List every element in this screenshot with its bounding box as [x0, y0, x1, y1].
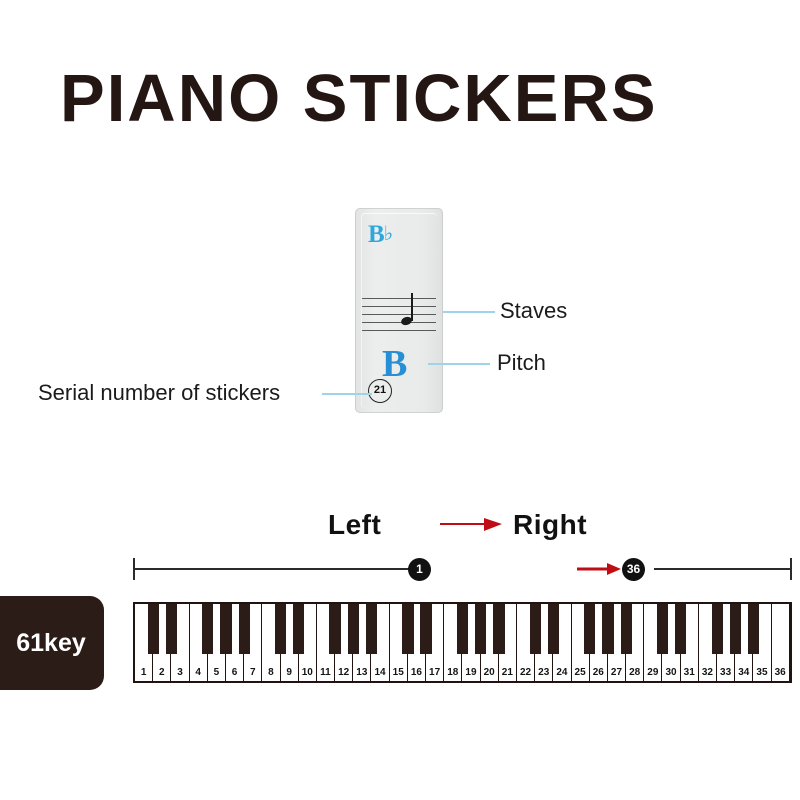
arrow-right-icon	[440, 512, 502, 536]
sticker-serial-number: 21	[368, 379, 392, 403]
sticker-note-letter: B	[368, 221, 384, 248]
white-key-number: 10	[302, 668, 313, 678]
white-key-number: 25	[575, 668, 586, 678]
white-key-number: 16	[411, 668, 422, 678]
staff-line	[362, 306, 436, 307]
white-key-number: 24	[556, 668, 567, 678]
callout-label-staves: Staves	[500, 298, 567, 324]
black-key[interactable]	[548, 604, 559, 654]
white-key-number: 1	[141, 668, 147, 678]
page-title: PIANO STICKERS	[60, 63, 800, 135]
black-key[interactable]	[366, 604, 377, 654]
piano-keys-container: 1234567891011121314151617181920212223242…	[135, 604, 790, 681]
white-key[interactable]: 36	[772, 604, 790, 681]
black-key[interactable]	[475, 604, 486, 654]
callout-leader-line-staves	[443, 311, 495, 313]
black-key[interactable]	[148, 604, 159, 654]
black-key[interactable]	[293, 604, 304, 654]
black-key[interactable]	[457, 604, 468, 654]
key-count-label: 61key	[0, 596, 104, 690]
span-tick-end	[790, 558, 792, 580]
piano-stickers-infographic: PIANO STICKERS B♭ B 21 Staves Pitch Seri…	[0, 0, 800, 800]
music-staff	[362, 298, 436, 332]
white-key-number: 13	[356, 668, 367, 678]
black-key[interactable]	[621, 604, 632, 654]
white-key-number: 18	[447, 668, 458, 678]
span-badge-start: 1	[408, 558, 431, 581]
black-key[interactable]	[530, 604, 541, 654]
white-key-number: 27	[611, 668, 622, 678]
black-key[interactable]	[239, 604, 250, 654]
white-key-number: 19	[465, 668, 476, 678]
black-key[interactable]	[420, 604, 431, 654]
white-key-number: 26	[593, 668, 604, 678]
staff-line	[362, 298, 436, 299]
black-key[interactable]	[657, 604, 668, 654]
white-key-number: 7	[250, 668, 256, 678]
white-key-number: 23	[538, 668, 549, 678]
white-key-number: 11	[320, 668, 331, 678]
white-key-number: 5	[214, 668, 220, 678]
white-key-number: 12	[338, 668, 349, 678]
white-key-number: 36	[775, 668, 786, 678]
direction-label-left: Left	[328, 509, 381, 541]
direction-label-right: Right	[513, 509, 587, 541]
black-key[interactable]	[348, 604, 359, 654]
span-badge-end: 36	[622, 558, 645, 581]
white-key-number: 20	[484, 668, 495, 678]
white-key-number: 32	[702, 668, 713, 678]
arrow-right-icon	[577, 560, 621, 578]
quarter-note-stem-icon	[411, 293, 413, 321]
black-key[interactable]	[202, 604, 213, 654]
span-rule-left	[133, 568, 409, 570]
white-key-number: 34	[738, 668, 749, 678]
white-key-number: 21	[502, 668, 513, 678]
sticker-note-name-top: B♭	[368, 222, 392, 247]
white-key-number: 4	[195, 668, 201, 678]
white-key-number: 17	[429, 668, 440, 678]
staff-line	[362, 322, 436, 323]
key-range-span: 1 36	[133, 556, 793, 586]
span-rule-right	[654, 568, 791, 570]
white-key-number: 33	[720, 668, 731, 678]
black-key[interactable]	[166, 604, 177, 654]
white-key-number: 6	[232, 668, 238, 678]
black-key[interactable]	[220, 604, 231, 654]
white-key-number: 35	[756, 668, 767, 678]
callout-label-serial: Serial number of stickers	[38, 380, 280, 406]
flat-symbol-icon: ♭	[384, 223, 392, 245]
white-key-number: 22	[520, 668, 531, 678]
white-key-number: 28	[629, 668, 640, 678]
black-key[interactable]	[584, 604, 595, 654]
white-key-number: 8	[268, 668, 274, 678]
white-key-number: 30	[665, 668, 676, 678]
white-key-number: 3	[177, 668, 183, 678]
black-key[interactable]	[602, 604, 613, 654]
white-key-number: 14	[374, 668, 385, 678]
staff-line	[362, 314, 436, 315]
piano-keyboard: 1234567891011121314151617181920212223242…	[133, 602, 792, 683]
black-key[interactable]	[712, 604, 723, 654]
white-key-number: 15	[393, 668, 404, 678]
white-key-number: 2	[159, 668, 165, 678]
staff-line	[362, 330, 436, 331]
black-key[interactable]	[730, 604, 741, 654]
key-count-badge: 61key	[0, 596, 104, 690]
sticker-sample-card: B♭ B 21	[355, 208, 443, 413]
white-key-number: 29	[647, 668, 658, 678]
black-key[interactable]	[493, 604, 504, 654]
black-key[interactable]	[275, 604, 286, 654]
callout-leader-line-serial	[322, 393, 372, 395]
black-key[interactable]	[329, 604, 340, 654]
white-key-number: 31	[684, 668, 695, 678]
callout-label-pitch: Pitch	[497, 350, 546, 376]
callout-leader-line-pitch	[428, 363, 490, 365]
black-key[interactable]	[748, 604, 759, 654]
sticker-pitch-letter: B	[382, 345, 407, 383]
black-key[interactable]	[402, 604, 413, 654]
white-key-number: 9	[286, 668, 292, 678]
black-key[interactable]	[675, 604, 686, 654]
